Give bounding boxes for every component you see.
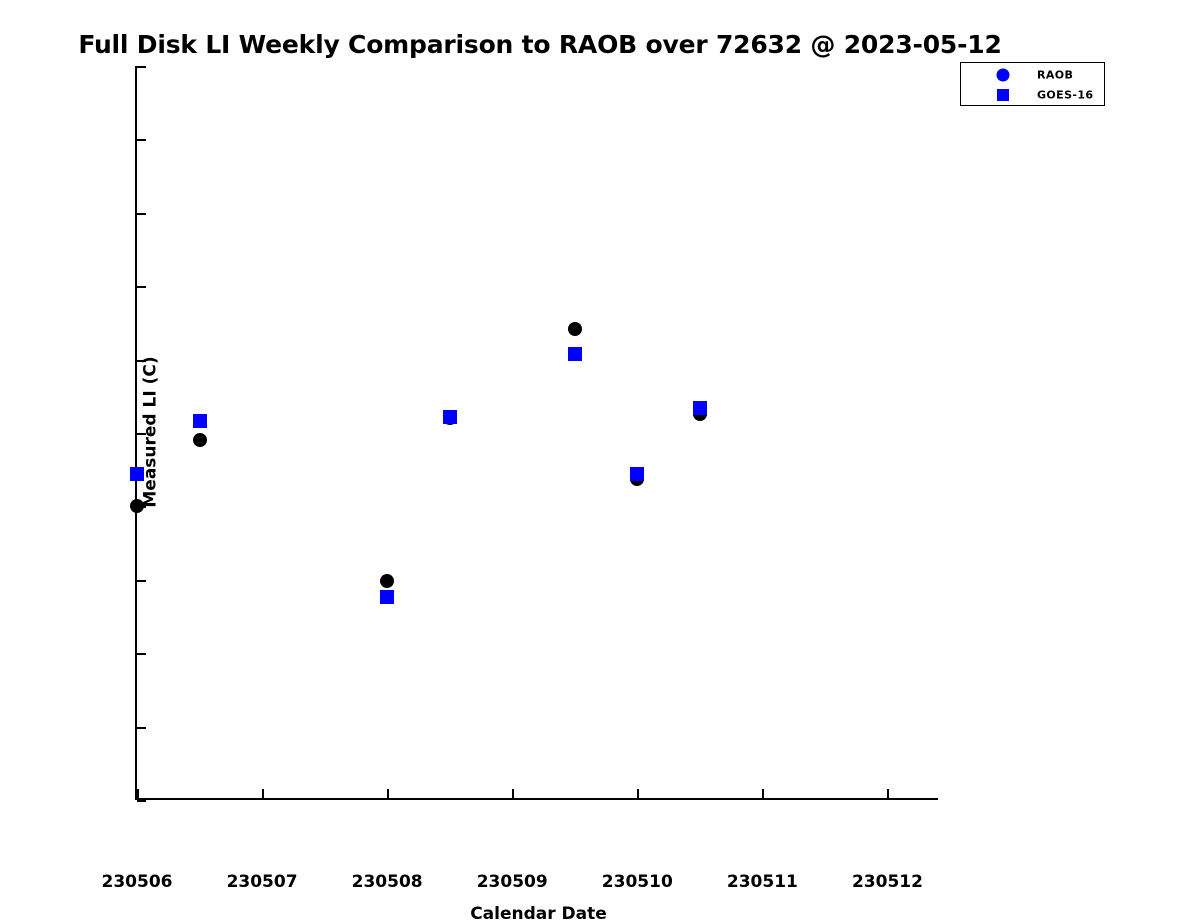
x-tick-label: 230511 <box>727 872 798 892</box>
x-tick-label: 230512 <box>852 872 923 892</box>
x-tick-label: 230510 <box>602 872 673 892</box>
legend-circle-icon <box>997 68 1010 81</box>
x-tick <box>387 789 389 798</box>
data-point-goes-16 <box>693 401 707 415</box>
y-tick <box>137 139 146 141</box>
data-point-raob <box>380 574 394 588</box>
y-tick <box>137 213 146 215</box>
x-tick-label: 230509 <box>477 872 548 892</box>
y-tick <box>137 66 146 68</box>
x-tick-label: 230506 <box>102 872 173 892</box>
y-axis-title: Measured LI (C) <box>141 356 161 507</box>
x-tick <box>762 789 764 798</box>
legend-square-icon <box>997 89 1009 101</box>
chart-figure: Full Disk LI Weekly Comparison to RAOB o… <box>0 0 1200 900</box>
chart-legend: RAOBGOES-16 <box>960 62 1105 106</box>
legend-label: RAOB <box>1037 68 1073 81</box>
x-tick <box>137 789 139 798</box>
data-point-raob <box>568 322 582 336</box>
data-point-raob <box>193 433 207 447</box>
data-point-goes-16 <box>568 347 582 361</box>
x-tick-label: 230507 <box>227 872 298 892</box>
data-point-goes-16 <box>193 414 207 428</box>
page-title: Full Disk LI Weekly Comparison to RAOB o… <box>0 30 1080 59</box>
y-tick <box>137 286 146 288</box>
x-axis-title: Calendar Date <box>137 904 940 924</box>
y-tick <box>137 653 146 655</box>
y-tick <box>137 727 146 729</box>
plot-area: 35302520151050-5-10-15 23050623050723050… <box>135 66 938 800</box>
data-point-goes-16 <box>630 467 644 481</box>
x-tick <box>887 789 889 798</box>
x-tick <box>262 789 264 798</box>
x-tick <box>512 789 514 798</box>
y-tick <box>137 580 146 582</box>
x-tick <box>637 789 639 798</box>
y-tick <box>137 800 146 802</box>
x-tick-label: 230508 <box>352 872 423 892</box>
legend-item-raob: RAOB <box>961 65 1106 84</box>
legend-item-goes-16: GOES-16 <box>961 85 1106 104</box>
data-point-goes-16 <box>380 590 394 604</box>
data-point-goes-16 <box>443 410 457 424</box>
legend-label: GOES-16 <box>1037 88 1094 101</box>
